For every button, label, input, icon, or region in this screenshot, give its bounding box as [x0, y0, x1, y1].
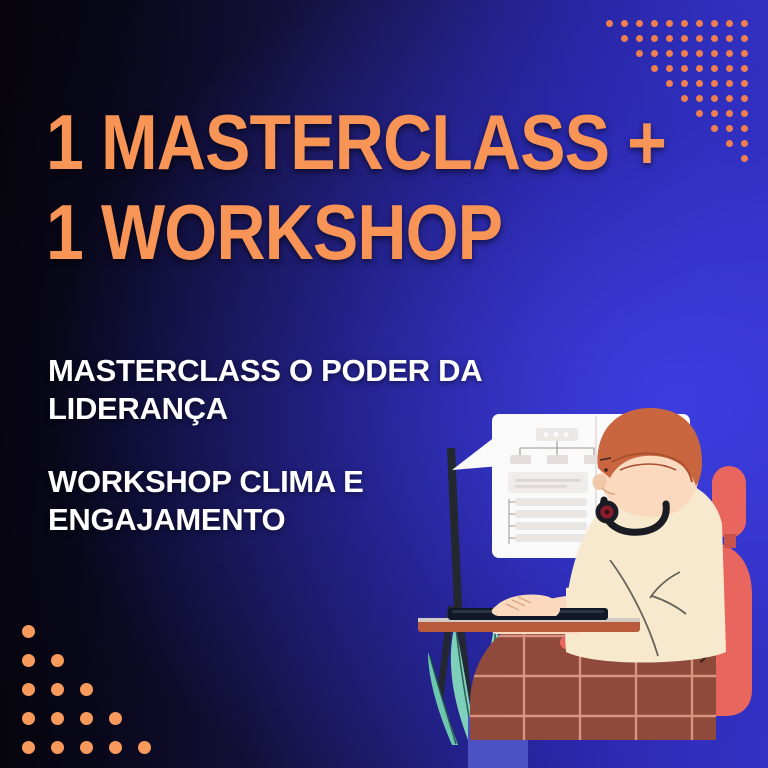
decorative-dot [651, 50, 658, 57]
decorative-dot [22, 741, 35, 754]
headline: 1 MASTERCLASS + 1 WORKSHOP [46, 104, 757, 271]
person-hand [492, 594, 560, 616]
decorative-dot [651, 20, 658, 27]
board-phone-mockup [608, 425, 646, 483]
dot-row [602, 61, 752, 76]
decorative-dot [726, 65, 733, 72]
decorative-dot [22, 683, 35, 696]
board-flowchart [510, 428, 605, 464]
decorative-dot [681, 80, 688, 87]
decorative-dot [711, 50, 718, 57]
decorative-dot [22, 654, 35, 667]
decorative-dot [681, 65, 688, 72]
decorative-dot [726, 50, 733, 57]
decorative-dot [51, 654, 64, 667]
decorative-dot [651, 65, 658, 72]
decorative-dot [80, 712, 93, 725]
subheadings: MASTERCLASS O PODER DA LIDERANÇA WORKSHO… [48, 352, 508, 540]
decorative-dot [711, 80, 718, 87]
board-ui-label: UI [652, 477, 694, 521]
decorative-dot [22, 625, 35, 638]
dot-row [14, 646, 159, 675]
decorative-dot [696, 80, 703, 87]
decorative-dot [711, 65, 718, 72]
decorative-dot [696, 95, 703, 102]
dot-row [602, 76, 752, 91]
board-bullet-list [509, 498, 587, 544]
headline-line-1: 1 MASTERCLASS + [46, 104, 666, 180]
decorative-dot [726, 95, 733, 102]
board-profile-card [654, 423, 688, 467]
decorative-dot [711, 95, 718, 102]
dot-triangle-bottom-left [14, 617, 159, 762]
decorative-dot [681, 20, 688, 27]
decorative-dot [621, 20, 628, 27]
decorative-dot [606, 20, 613, 27]
decorative-dot [681, 95, 688, 102]
decorative-dot [666, 50, 673, 57]
decorative-dot [741, 95, 748, 102]
decorative-dot [666, 65, 673, 72]
decorative-dot [138, 741, 151, 754]
desk-plant [428, 616, 544, 768]
decorative-dot [666, 80, 673, 87]
decorative-dot [681, 35, 688, 42]
person-legs [470, 600, 740, 750]
decorative-dot [696, 65, 703, 72]
decorative-dot [681, 50, 688, 57]
decorative-dot [726, 35, 733, 42]
decorative-dot [51, 712, 64, 725]
decorative-dot [109, 741, 122, 754]
decorative-dot [22, 712, 35, 725]
decorative-dot [80, 741, 93, 754]
decorative-dot [726, 20, 733, 27]
dot-row [602, 16, 752, 31]
decorative-dot [51, 741, 64, 754]
decorative-dot [651, 35, 658, 42]
decorative-dot [711, 35, 718, 42]
decorative-dot [696, 35, 703, 42]
decorative-dot [109, 712, 122, 725]
decorative-dot [636, 20, 643, 27]
office-chair [700, 466, 752, 716]
dot-row [602, 31, 752, 46]
dot-row [14, 617, 159, 646]
decorative-dot [741, 65, 748, 72]
decorative-dot [636, 50, 643, 57]
board-text-block [508, 472, 588, 493]
decorative-dot [80, 683, 93, 696]
decorative-dot [741, 50, 748, 57]
decorative-dot [726, 80, 733, 87]
headphones [596, 500, 667, 532]
subheading-workshop: WORKSHOP CLIMA E ENGAJAMENTO [48, 463, 508, 540]
decorative-dot [621, 35, 628, 42]
subheading-masterclass: MASTERCLASS O PODER DA LIDERANÇA [48, 352, 508, 429]
headline-line-2: 1 WORKSHOP [46, 194, 666, 270]
decorative-dot [741, 35, 748, 42]
decorative-dot [696, 20, 703, 27]
dot-row [14, 733, 159, 762]
desk [418, 618, 640, 632]
dot-row [602, 46, 752, 61]
decorative-dot [696, 50, 703, 57]
decorative-dot [666, 35, 673, 42]
keyboard [448, 608, 608, 620]
person-torso [565, 479, 726, 663]
decorative-dot [741, 20, 748, 27]
decorative-dot [711, 20, 718, 27]
decorative-dot [666, 20, 673, 27]
person-head [592, 408, 702, 517]
person-arm [490, 586, 614, 634]
decorative-dot [51, 683, 64, 696]
chair-armrest [560, 636, 716, 662]
dot-row [14, 704, 159, 733]
decorative-dot [741, 80, 748, 87]
dot-row [14, 675, 159, 704]
decorative-dot [636, 35, 643, 42]
promo-poster: 1 MASTERCLASS + 1 WORKSHOP MASTERCLASS O… [0, 0, 768, 768]
